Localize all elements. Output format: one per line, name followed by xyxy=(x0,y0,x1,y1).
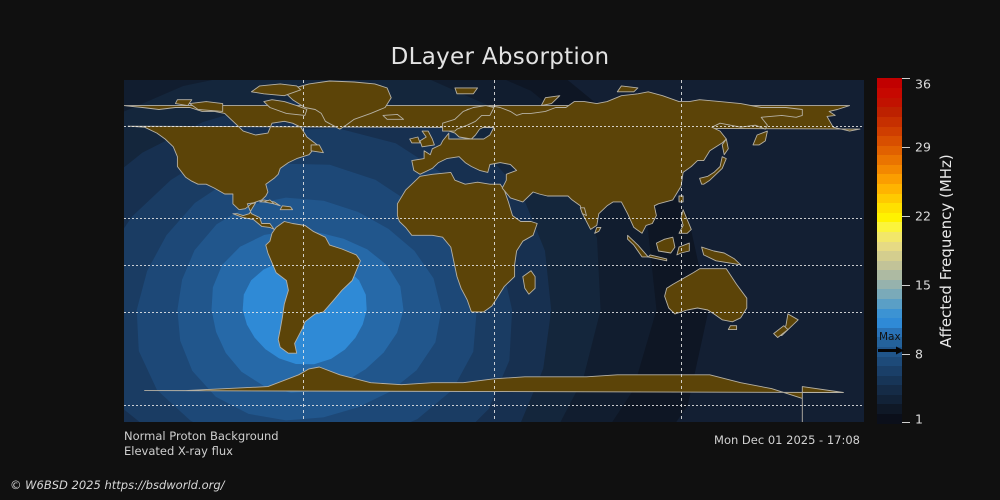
colorbar-tick-mark xyxy=(902,285,910,286)
colorbar-segment xyxy=(877,126,902,136)
colorbar-segment xyxy=(877,88,902,98)
colorbar-tick-mark xyxy=(902,147,910,148)
landmass-svalbard xyxy=(455,88,478,94)
colorbar-segment xyxy=(877,270,902,280)
colorbar-segment xyxy=(877,231,902,241)
colorbar-segment xyxy=(877,97,902,107)
colorbar-segment xyxy=(877,145,902,155)
colorbar-segment xyxy=(877,366,902,376)
colorbar-segment xyxy=(877,385,902,395)
timestamp: Mon Dec 01 2025 - 17:08 xyxy=(714,433,860,447)
world-map-svg xyxy=(124,80,864,422)
colorbar-tick-label: 1 xyxy=(915,412,923,427)
colorbar-tick-mark xyxy=(902,354,910,355)
colorbar-axis-label: Affected Frequency (MHz) xyxy=(935,78,957,423)
colorbar-segment xyxy=(877,136,902,146)
colorbar-segment xyxy=(877,212,902,222)
colorbar-segment xyxy=(877,356,902,366)
app-root: DLayer Absorption Max 1815222936 Affecte… xyxy=(0,0,1000,500)
colorbar-segment xyxy=(877,394,902,404)
colorbar-segment xyxy=(877,279,902,289)
colorbar-segment xyxy=(877,193,902,203)
colorbar-segment xyxy=(877,308,902,318)
colorbar-segment xyxy=(877,203,902,213)
colorbar-segment xyxy=(877,318,902,328)
colorbar-segment xyxy=(877,289,902,299)
colorbar-tick-label: 36 xyxy=(915,77,931,92)
colorbar-segment xyxy=(877,260,902,270)
colorbar-segment xyxy=(877,155,902,165)
colorbar-segment xyxy=(877,375,902,385)
landmass-taiwan xyxy=(679,196,683,202)
colorbar-segment xyxy=(877,107,902,117)
absorption-map[interactable] xyxy=(124,80,864,422)
colorbar-tick-mark xyxy=(902,78,910,79)
colorbar-segment xyxy=(877,298,902,308)
page-title: DLayer Absorption xyxy=(0,44,1000,70)
colorbar-segment xyxy=(877,164,902,174)
colorbar-segment xyxy=(877,174,902,184)
colorbar[interactable]: Max xyxy=(877,78,902,423)
colorbar-segment xyxy=(877,404,902,414)
colorbar-segment xyxy=(877,251,902,261)
colorbar-tick-label: 22 xyxy=(915,209,931,224)
status-proton-background: Normal Proton Background xyxy=(124,429,279,444)
max-arrow-icon xyxy=(878,346,904,355)
colorbar-tick-label: 29 xyxy=(915,140,931,155)
colorbar-segment xyxy=(877,116,902,126)
colorbar-segment xyxy=(877,222,902,232)
colorbar-tick-mark xyxy=(902,422,910,423)
colorbar-segment xyxy=(877,78,902,88)
colorbar-axis-label-text: Affected Frequency (MHz) xyxy=(937,154,955,348)
status-block: Normal Proton Background Elevated X-ray … xyxy=(124,429,279,459)
max-absorption-marker: Max xyxy=(877,334,902,356)
status-xray-flux: Elevated X-ray flux xyxy=(124,444,279,459)
copyright-notice: © W6BSD 2025 https://bsdworld.org/ xyxy=(10,478,225,492)
colorbar-tick-label: 8 xyxy=(915,347,923,362)
max-marker-label: Max xyxy=(879,332,901,342)
colorbar-segment xyxy=(877,183,902,193)
colorbar-segment xyxy=(877,241,902,251)
colorbar-tick-label: 15 xyxy=(915,278,931,293)
colorbar-segment xyxy=(877,413,902,423)
colorbar-tick-mark xyxy=(902,216,910,217)
